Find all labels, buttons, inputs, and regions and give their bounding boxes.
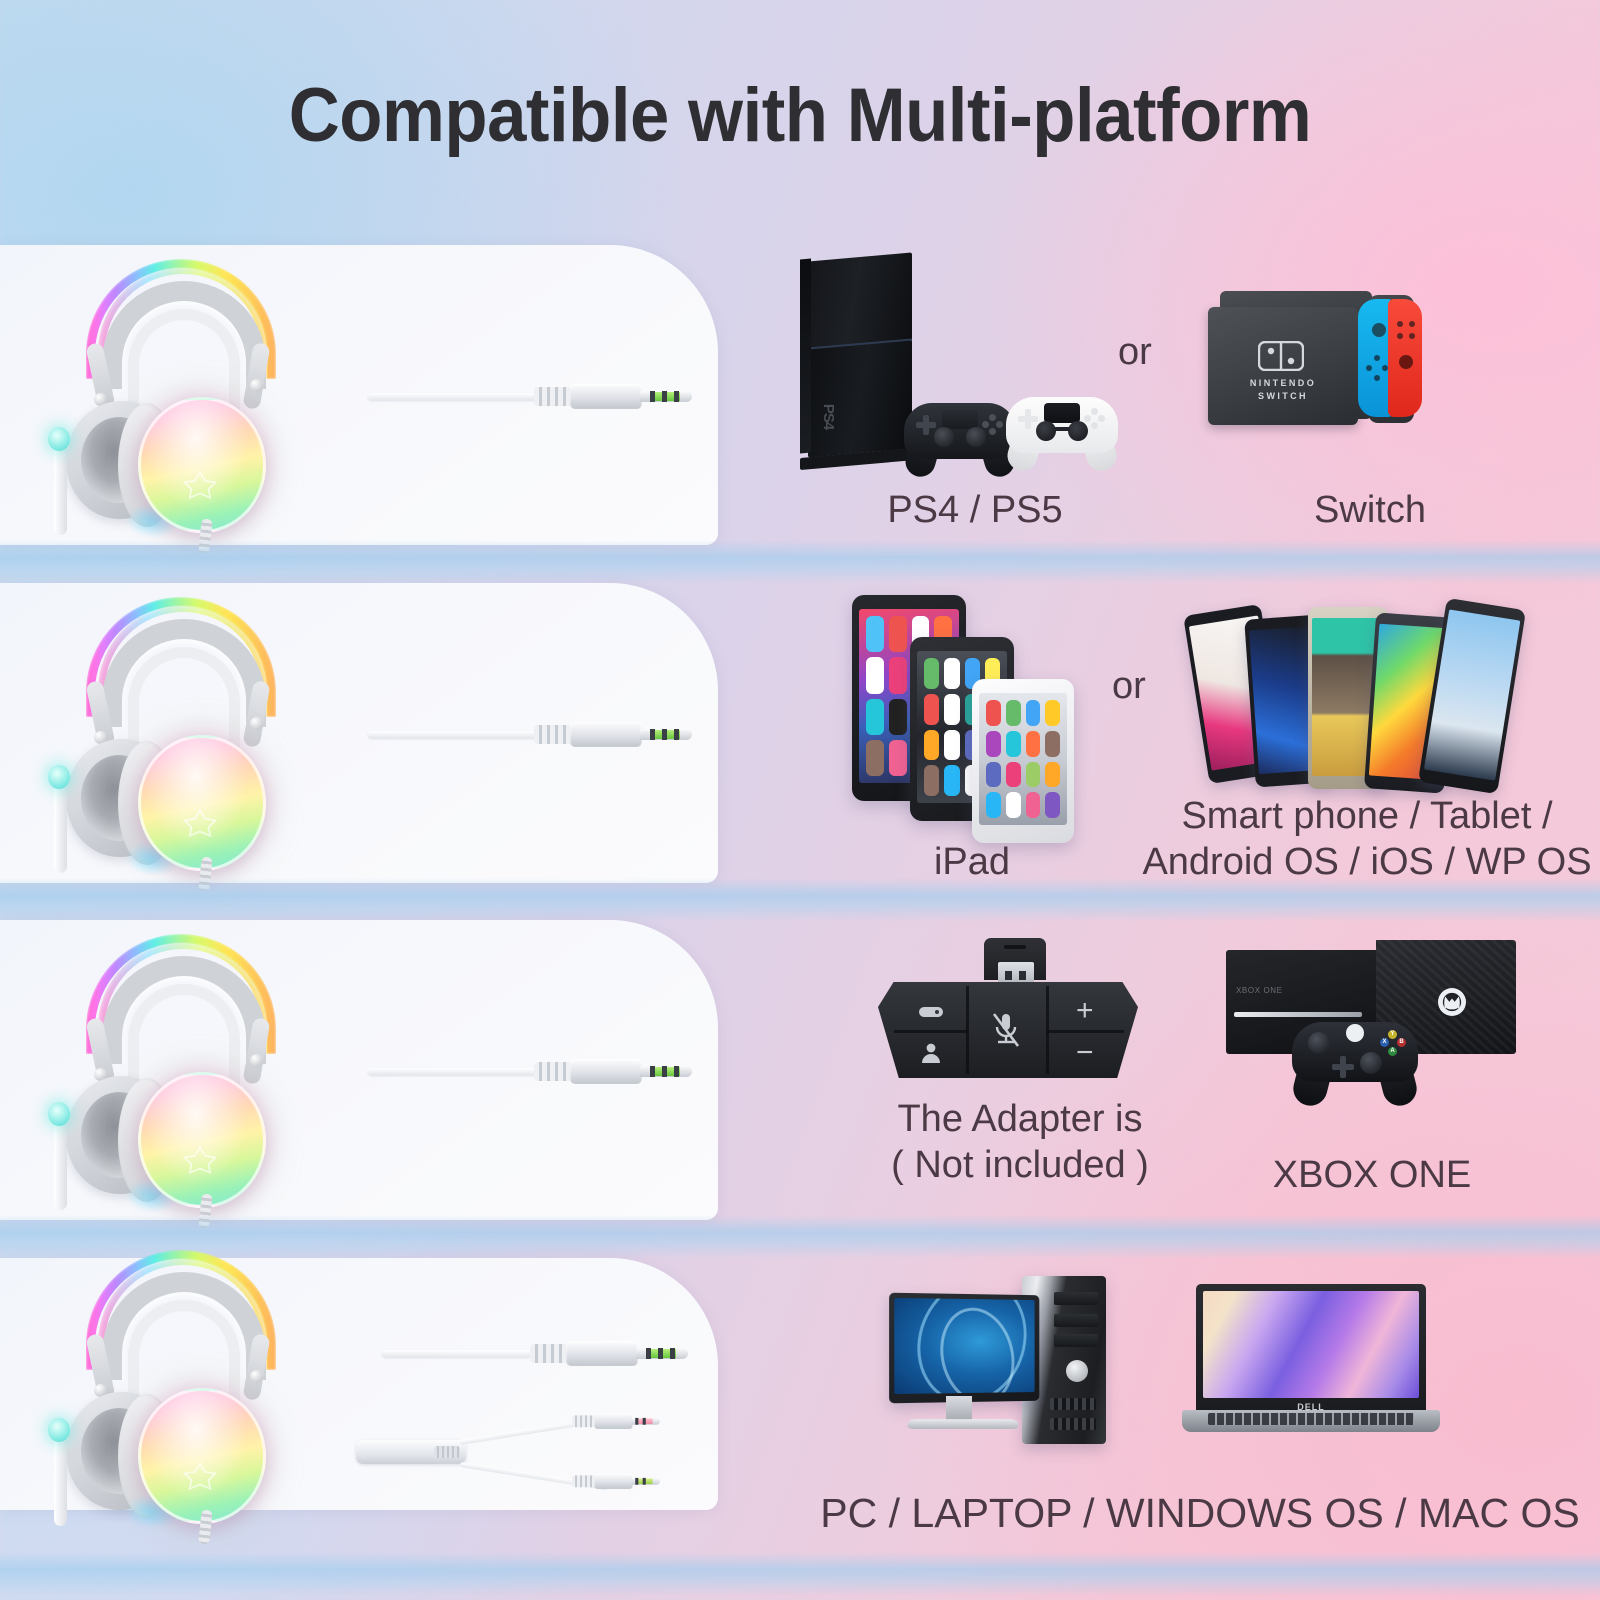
headset-cable bbox=[198, 1194, 212, 1229]
plug-barrel bbox=[566, 1341, 638, 1366]
laptop-keyboard[interactable] bbox=[1208, 1413, 1414, 1425]
earcup-rgb bbox=[138, 1072, 266, 1208]
rgb-gaming-headset bbox=[30, 1242, 330, 1534]
plug-ring-1 bbox=[650, 391, 655, 402]
monitor-stand bbox=[946, 1396, 972, 1420]
nintendo-switch: NINTENDO SWITCH bbox=[1200, 291, 1540, 541]
divider-horizontal-left bbox=[894, 1030, 968, 1033]
plug-ring-2 bbox=[643, 1478, 646, 1485]
adapter-slot bbox=[1004, 945, 1026, 949]
center-light-bar bbox=[1054, 427, 1070, 431]
touchpad bbox=[942, 409, 978, 429]
mic-boom-arm bbox=[54, 777, 67, 873]
ipad-screen bbox=[979, 693, 1067, 825]
plug-ring-1 bbox=[646, 1348, 651, 1359]
ps4-upper-shell bbox=[808, 252, 912, 353]
3.5mm-audio-plug bbox=[368, 1058, 698, 1084]
ps4-logo: PS4 bbox=[820, 404, 837, 429]
product-panel bbox=[0, 245, 718, 545]
earcup-rgb bbox=[138, 1388, 266, 1524]
row-xbox: + − The Adapter is ( Not included ) XBOX… bbox=[0, 920, 1600, 1220]
mute-microphone-icon bbox=[992, 1012, 1020, 1048]
dualshock4-controller bbox=[904, 395, 1016, 473]
rgb-gaming-headset bbox=[30, 926, 330, 1218]
plug-ring-2 bbox=[662, 1066, 667, 1077]
row-pc-laptop: DELL PC / LAPTOP / WINDOWS OS / MAC OS bbox=[0, 1258, 1600, 1568]
ipad-caption: iPad bbox=[852, 839, 1092, 885]
3.5mm-audio-plug bbox=[368, 721, 698, 747]
dell-laptop: DELL bbox=[1182, 1284, 1462, 1464]
page-title: Compatible with Multi-platform bbox=[56, 72, 1544, 159]
plug-ring-3 bbox=[674, 729, 679, 740]
front-vent-1 bbox=[1050, 1398, 1096, 1410]
mic-capsule-led bbox=[48, 427, 70, 451]
ps4-console-body: PS4 bbox=[800, 257, 918, 469]
mic-plug-pink bbox=[572, 1413, 696, 1429]
row-ipad-phones: iPad or Smart phone / Tablet / Android O… bbox=[0, 583, 1600, 883]
stick-right bbox=[966, 427, 986, 447]
power-button[interactable] bbox=[1066, 1360, 1088, 1382]
stick-left bbox=[934, 427, 954, 447]
rgb-gaming-headset bbox=[30, 589, 330, 881]
3.5mm-audio-plug bbox=[368, 383, 698, 409]
strain-relief bbox=[534, 1062, 572, 1081]
product-panel bbox=[0, 583, 718, 883]
headset-cable bbox=[198, 519, 212, 554]
strain-relief bbox=[534, 387, 572, 406]
cable-wire bbox=[368, 393, 538, 400]
optical-bay-1 bbox=[1054, 1292, 1098, 1305]
console-brand-text: XBOX ONE bbox=[1236, 986, 1283, 995]
rgb-gaming-headset bbox=[30, 251, 330, 543]
plug-ring-2 bbox=[643, 1418, 646, 1425]
volume-up-icon: + bbox=[1076, 996, 1094, 1026]
headset-cable bbox=[198, 857, 212, 892]
xbox-one-caption: XBOX ONE bbox=[1192, 1152, 1552, 1198]
plug-ring-2 bbox=[662, 391, 667, 402]
monitor-screen bbox=[894, 1298, 1034, 1394]
button-x: X bbox=[1380, 1038, 1389, 1047]
plug-barrel bbox=[570, 1059, 642, 1084]
y-splitter-adapter bbox=[356, 1406, 686, 1498]
mic-boom-arm bbox=[54, 1114, 67, 1210]
plug-barrel bbox=[570, 384, 642, 409]
boom-microphone bbox=[38, 1414, 98, 1524]
ps4-ps5-caption: PS4 / PS5 bbox=[800, 487, 1150, 533]
mic-capsule-led bbox=[48, 765, 70, 789]
mic-boom-arm bbox=[54, 1430, 67, 1526]
xbox-controller: Y B A X bbox=[1292, 1012, 1418, 1108]
plug-ring-3 bbox=[674, 1066, 679, 1077]
strain-relief bbox=[530, 1344, 568, 1363]
hinge-screw-right bbox=[250, 379, 263, 392]
front-vent-2 bbox=[1050, 1418, 1096, 1430]
dpad-icon bbox=[1332, 1056, 1354, 1078]
button-b: B bbox=[1397, 1038, 1406, 1047]
adapter-caption-line-2: ( Not included ) bbox=[830, 1142, 1210, 1188]
dell-laptop-group: DELL bbox=[1182, 1284, 1440, 1440]
product-panel bbox=[0, 1258, 718, 1510]
plug-ring-1 bbox=[635, 1478, 638, 1485]
cable-wire bbox=[382, 1350, 532, 1357]
ps4-lower-shell bbox=[808, 340, 912, 457]
brand-logo-icon bbox=[183, 808, 217, 838]
optical-bay-2 bbox=[1054, 1314, 1098, 1327]
ps4-side-strip bbox=[800, 259, 811, 454]
switch-hardware: NINTENDO SWITCH bbox=[1208, 291, 1418, 441]
earcup-rgb bbox=[138, 735, 266, 871]
infographic-root: Compatible with Multi-platform bbox=[0, 0, 1600, 1600]
face-buttons: Y B A X bbox=[1380, 1030, 1406, 1056]
stick-right bbox=[1360, 1052, 1382, 1074]
strain-relief bbox=[572, 1475, 596, 1487]
strain-relief bbox=[572, 1415, 596, 1427]
boom-microphone bbox=[38, 761, 98, 871]
xbox-guide-button bbox=[1346, 1024, 1364, 1042]
ipad-tablets: iPad bbox=[852, 591, 1112, 881]
touchpad bbox=[1044, 403, 1080, 423]
brand-line-1: NINTENDO bbox=[1250, 378, 1316, 388]
mic-capsule-led bbox=[48, 1102, 70, 1126]
hinge-screw-right bbox=[250, 1054, 263, 1067]
row-divider bbox=[0, 540, 1600, 584]
phones-caption-line-2: Android OS / iOS / WP OS bbox=[1132, 839, 1600, 885]
button-a: A bbox=[1388, 1047, 1397, 1056]
boom-microphone bbox=[38, 423, 98, 533]
app-icon-grid bbox=[979, 693, 1067, 825]
plug-barrel bbox=[570, 722, 642, 747]
cable-wire bbox=[368, 1068, 538, 1075]
row-playstation-switch: PS4 PS bbox=[0, 245, 1600, 545]
plug-barrel bbox=[594, 1474, 632, 1490]
adapter-caption: The Adapter is ( Not included ) bbox=[830, 1096, 1210, 1189]
brand-logo-icon bbox=[183, 470, 217, 500]
dpad-icon bbox=[1018, 409, 1038, 429]
xbox-stereo-headset-adapter: + − The Adapter is ( Not included ) bbox=[830, 938, 1210, 1220]
game-audio-icon bbox=[918, 1002, 944, 1022]
or-connector-label: or bbox=[1118, 331, 1152, 374]
switch-caption: Switch bbox=[1200, 487, 1540, 533]
mic-boom-arm bbox=[54, 439, 67, 535]
earcup-rgb bbox=[138, 397, 266, 533]
dpad-icon bbox=[916, 415, 936, 435]
adapter-body-group: + − bbox=[878, 938, 1138, 1078]
audio-plug-green bbox=[572, 1473, 696, 1489]
smartphone-fan: Smart phone / Tablet / Android OS / iOS … bbox=[1192, 587, 1542, 879]
switch-console: NINTENDO SWITCH bbox=[1208, 307, 1358, 425]
or-connector-label: or bbox=[1112, 665, 1146, 708]
plug-ring-2 bbox=[658, 1348, 663, 1359]
brand-line-2: SWITCH bbox=[1258, 391, 1308, 401]
splitter-female-jack bbox=[356, 1440, 466, 1464]
strain-relief bbox=[534, 725, 572, 744]
xbox-one-console: XBOX ONE bbox=[1192, 940, 1552, 1220]
pc-monitor bbox=[889, 1293, 1039, 1404]
desktop-pc-group bbox=[890, 1276, 1140, 1466]
divider-horizontal-right bbox=[1046, 1030, 1124, 1033]
product-panel bbox=[0, 920, 718, 1220]
nintendo-switch-logo-icon bbox=[1258, 341, 1304, 371]
plug-barrel bbox=[594, 1414, 632, 1430]
plug-ring-3 bbox=[674, 391, 679, 402]
cable-wire bbox=[368, 731, 538, 738]
stick-left bbox=[1036, 421, 1056, 441]
headset-cable bbox=[198, 1510, 212, 1545]
adapter-caption-line-1: The Adapter is bbox=[830, 1096, 1210, 1142]
monitor-base bbox=[907, 1419, 1019, 1429]
laptop-lid: DELL bbox=[1196, 1284, 1426, 1414]
volume-down-icon: − bbox=[1076, 1038, 1094, 1068]
plug-ring-1 bbox=[650, 1066, 655, 1077]
laptop-screen bbox=[1203, 1291, 1419, 1398]
brand-logo-icon bbox=[183, 1145, 217, 1175]
3.5mm-audio-plug bbox=[382, 1340, 712, 1366]
plug-ring-1 bbox=[650, 729, 655, 740]
stick-right bbox=[1068, 421, 1088, 441]
xbox-logo-icon bbox=[1438, 988, 1466, 1016]
switch-brand-text: NINTENDO SWITCH bbox=[1246, 377, 1320, 402]
chat-audio-person-icon bbox=[920, 1042, 942, 1064]
dualsense5-controller bbox=[1006, 389, 1118, 467]
phones-caption-line-1: Smart phone / Tablet / bbox=[1132, 793, 1600, 839]
button-y: Y bbox=[1388, 1030, 1397, 1039]
optical-bay-3 bbox=[1054, 1334, 1098, 1347]
boom-microphone bbox=[38, 1098, 98, 1208]
hinge-screw-right bbox=[250, 1370, 263, 1383]
plug-ring-1 bbox=[635, 1418, 638, 1425]
ps4-ps5-console: PS4 PS bbox=[800, 255, 1150, 545]
joycon-right-red bbox=[1388, 299, 1422, 417]
mic-capsule-led bbox=[48, 1418, 70, 1442]
hinge-screw-right bbox=[250, 717, 263, 730]
plug-ring-3 bbox=[670, 1348, 675, 1359]
desktop-pc bbox=[890, 1276, 1150, 1476]
brand-logo-icon bbox=[183, 1461, 217, 1491]
stick-left bbox=[1308, 1032, 1330, 1054]
plug-ring-2 bbox=[662, 729, 667, 740]
pc-laptop-caption: PC / LAPTOP / WINDOWS OS / MAC OS bbox=[800, 1488, 1600, 1538]
phones-caption: Smart phone / Tablet / Android OS / iOS … bbox=[1132, 793, 1600, 886]
ipad-small-white bbox=[972, 679, 1074, 843]
